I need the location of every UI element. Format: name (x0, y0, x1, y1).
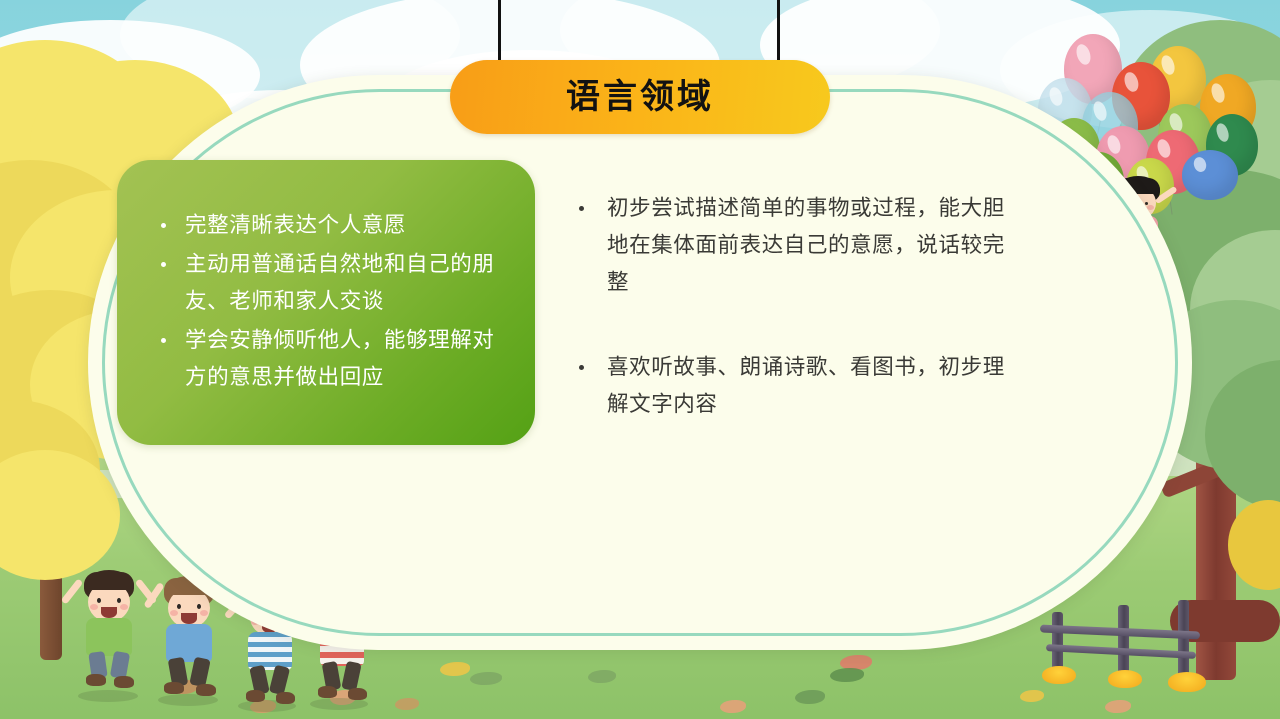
page-title: 语言领域 (566, 80, 714, 114)
green-bullet-item: 完整清晰表达个人意愿 (155, 207, 509, 244)
child-leg (110, 651, 130, 679)
child-mouth (181, 613, 197, 624)
green-bullet-item: 主动用普通话自然地和自己的朋友、老师和家人交谈 (155, 246, 509, 320)
child-shoe (196, 684, 216, 696)
child-cheek (200, 610, 208, 616)
child-mouth (101, 607, 117, 618)
green-highlight-card: 完整清晰表达个人意愿 主动用普通话自然地和自己的朋友、老师和家人交谈 学会安静倾… (117, 160, 535, 445)
playground-post-base (1168, 672, 1206, 692)
child-shoe (318, 686, 337, 698)
child-shirt (166, 624, 212, 662)
child-shoe (276, 692, 295, 704)
right-bullet-column: 初步尝试描述简单的事物或过程，能大胆地在集体面前表达自己的意愿，说话较完整 喜欢… (565, 190, 1005, 423)
playground-post-base (1108, 670, 1142, 688)
child-bangs (84, 572, 134, 590)
child-cheek (90, 604, 98, 610)
child-arm (61, 578, 84, 604)
child-shoe (164, 682, 184, 694)
child-eye (177, 604, 181, 609)
right-bullet-item: 喜欢听故事、朗诵诗歌、看图书，初步理解文字内容 (565, 349, 1005, 423)
child-cheek (120, 604, 128, 610)
child-cheek (170, 610, 178, 616)
title-banner: 语言领域 (450, 60, 830, 134)
child-eye (97, 598, 101, 603)
child-shoe (246, 690, 265, 702)
child-eye (117, 598, 121, 603)
playground-post-base (1042, 666, 1076, 684)
child-arm (143, 582, 164, 609)
green-card-bullet-list: 完整清晰表达个人意愿 主动用普通话自然地和自己的朋友、老师和家人交谈 学会安静倾… (117, 207, 535, 398)
child-shoe (114, 676, 134, 688)
child-shoe (348, 688, 367, 700)
child-shoe (86, 674, 106, 686)
balloon-blue (1182, 150, 1238, 200)
child-shirt (86, 618, 132, 656)
right-bullet-item: 初步尝试描述简单的事物或过程，能大胆地在集体面前表达自己的意愿，说话较完整 (565, 190, 1005, 301)
slide-canvas: 完整清晰表达个人意愿 主动用普通话自然地和自己的朋友、老师和家人交谈 学会安静倾… (0, 0, 1280, 719)
child-eye (197, 604, 201, 609)
green-bullet-item: 学会安静倾听他人，能够理解对方的意思并做出回应 (155, 322, 509, 396)
title-banner-group: 语言领域 (450, 0, 830, 134)
child-striped-shirt (248, 632, 292, 670)
